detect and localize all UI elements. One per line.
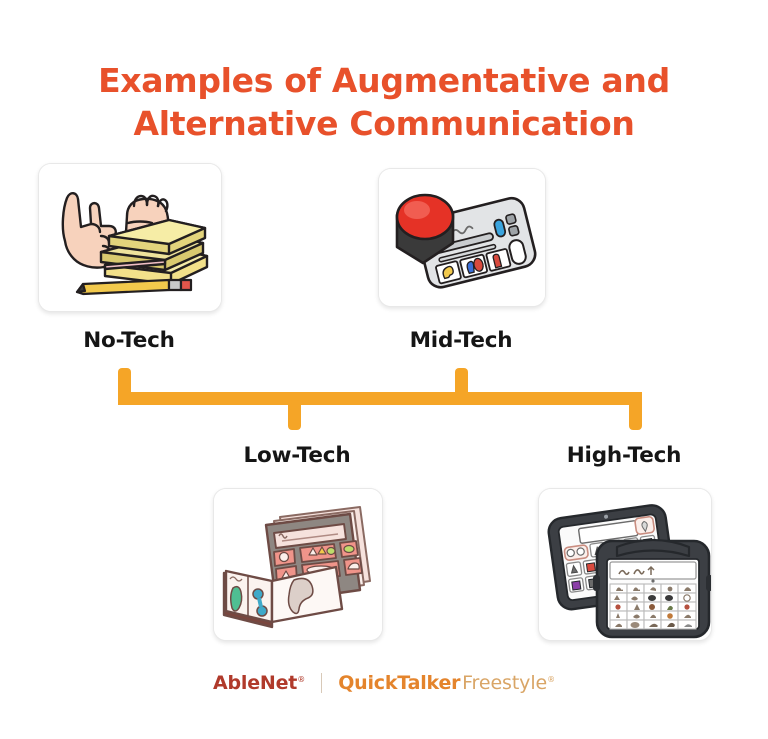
tech-continuum-bracket — [100, 358, 660, 438]
ablenet-wordmark: AbleNet® — [213, 672, 305, 694]
high-tech-illustration-card — [538, 488, 712, 641]
freestyle-text: Freestyle — [462, 672, 547, 694]
tier-label-no-tech: No-Tech — [38, 328, 220, 353]
mid-tech-illustration-card — [378, 168, 546, 307]
quicktalker-wordmark: QuickTalker — [338, 672, 460, 694]
aac-examples-infographic: Examples of Augmentative and Alternative… — [0, 0, 768, 739]
communication-board-picture-book-icon — [214, 489, 382, 640]
tier-label-high-tech: High-Tech — [538, 443, 710, 468]
no-tech-illustration-card — [38, 163, 222, 312]
tier-label-mid-tech: Mid-Tech — [378, 328, 544, 353]
page-title: Examples of Augmentative and Alternative… — [0, 60, 768, 146]
freestyle-wordmark: Freestyle® — [460, 672, 555, 694]
freestyle-registered-mark: ® — [547, 675, 555, 684]
page-title-line-1: Examples of Augmentative and — [0, 60, 768, 103]
page-title-line-2: Alternative Communication — [0, 103, 768, 146]
switch-button-speech-device-icon — [379, 169, 545, 306]
logo-divider — [321, 673, 322, 693]
ablenet-registered-mark: ® — [297, 675, 305, 684]
ablenet-text: AbleNet — [213, 672, 297, 694]
tier-label-low-tech: Low-Tech — [213, 443, 381, 468]
low-tech-illustration-card — [213, 488, 383, 641]
sign-language-hands-books-pencil-icon — [39, 164, 221, 311]
brand-logo-lockup: AbleNet® QuickTalker Freestyle® — [0, 672, 768, 694]
speech-generating-tablet-devices-icon — [539, 489, 711, 640]
